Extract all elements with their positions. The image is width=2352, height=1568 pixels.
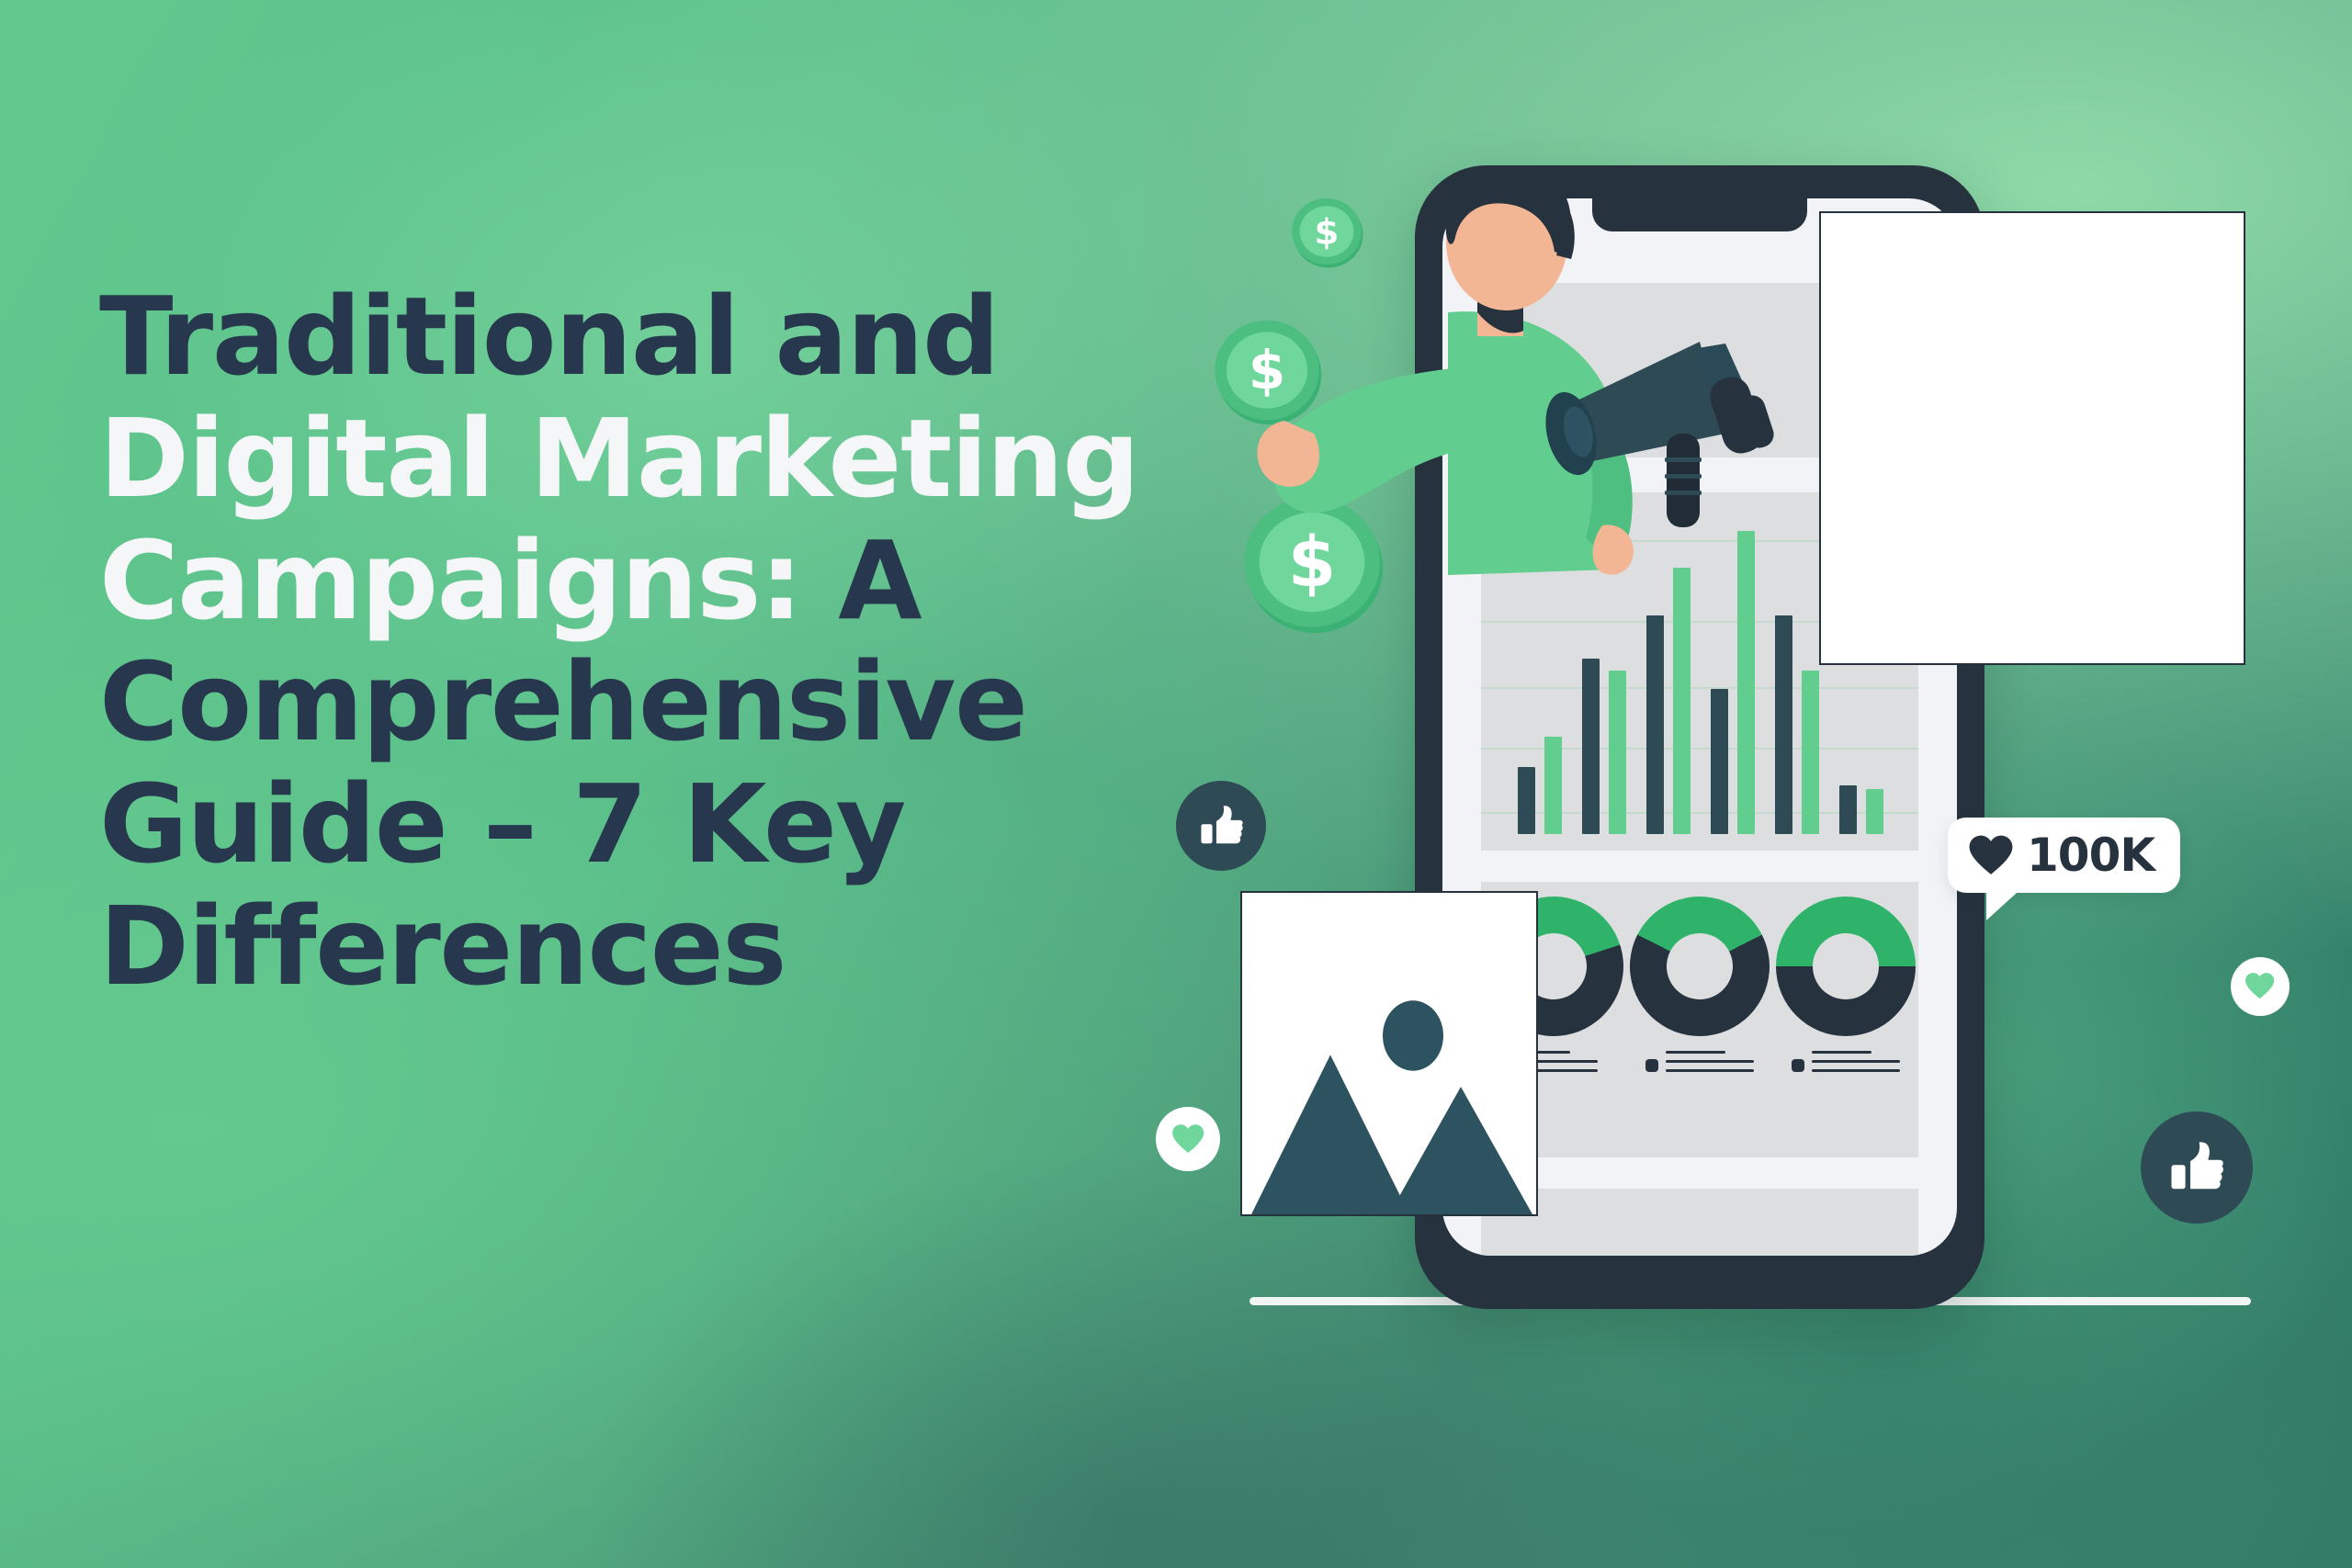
headline-block: Traditional and Digital Marketing Campai… (99, 276, 1202, 1008)
thumbs-up-icon (2166, 1137, 2227, 1198)
bar-traditional (1711, 689, 1728, 834)
donut-chart (1627, 897, 1773, 1078)
heart-icon (2245, 971, 2275, 1001)
legend-text-lines (1812, 1051, 1900, 1078)
donut-legend (1627, 1051, 1773, 1078)
thumbs-up-badge-right[interactable] (2141, 1111, 2253, 1224)
bar-digital (1802, 671, 1819, 834)
bar-digital (1737, 531, 1755, 834)
person-card (1819, 211, 2245, 665)
like-count-value: 100K (2027, 832, 2154, 878)
heart-icon (1968, 834, 2014, 877)
donut-ring (1606, 873, 1793, 1060)
bar-group (1707, 531, 1768, 834)
heart-badge-right[interactable] (2231, 957, 2290, 1016)
megaphone-icon (1545, 323, 1821, 553)
like-count-bubble-box: 100K (1948, 818, 2180, 893)
donut-ring (1776, 897, 1916, 1036)
headline-line-3-tail: A (802, 517, 921, 644)
illustration-stage: $ $ $ (1176, 165, 2352, 1359)
headline-line-5: Guide – 7 Key (99, 763, 1202, 886)
donut-chart-row (1481, 897, 1918, 1172)
legend-text-lines (1666, 1051, 1754, 1078)
image-placeholder-card (1240, 891, 1538, 1216)
headline-line-4: Comprehensive (99, 641, 1202, 763)
legend-dot (1645, 1059, 1658, 1072)
donut-chart-panel (1481, 882, 1918, 1157)
headline-line-2: Digital Marketing (99, 398, 1202, 520)
screen-panel-footer (1481, 1189, 1918, 1256)
headline-line-6: Differences (99, 886, 1202, 1008)
donut-legend (1772, 1051, 1918, 1078)
headline-line-3: Campaigns: A (99, 520, 1202, 642)
bar-digital (1544, 737, 1562, 834)
headline-line-1: Traditional and (99, 276, 1202, 398)
donut-chart (1772, 897, 1918, 1078)
bar-digital (1866, 789, 1883, 835)
heart-badge-left[interactable] (1156, 1107, 1220, 1171)
like-count-bubble[interactable]: 100K (1948, 818, 2180, 893)
bar-digital (1673, 568, 1690, 834)
headline-line-3-main: Campaigns: (99, 517, 802, 644)
image-placeholder-icon (1242, 938, 1536, 1214)
thumbs-up-icon (1197, 802, 1246, 851)
bar-traditional (1839, 785, 1857, 834)
bar-traditional (1518, 767, 1535, 834)
marketing-banner: Traditional and Digital Marketing Campai… (0, 0, 2352, 1568)
bubble-tail (1986, 884, 2027, 920)
heart-icon (1171, 1122, 1204, 1156)
bar-traditional (1775, 615, 1792, 834)
legend-dot (1792, 1059, 1804, 1072)
bar-digital (1609, 671, 1626, 834)
